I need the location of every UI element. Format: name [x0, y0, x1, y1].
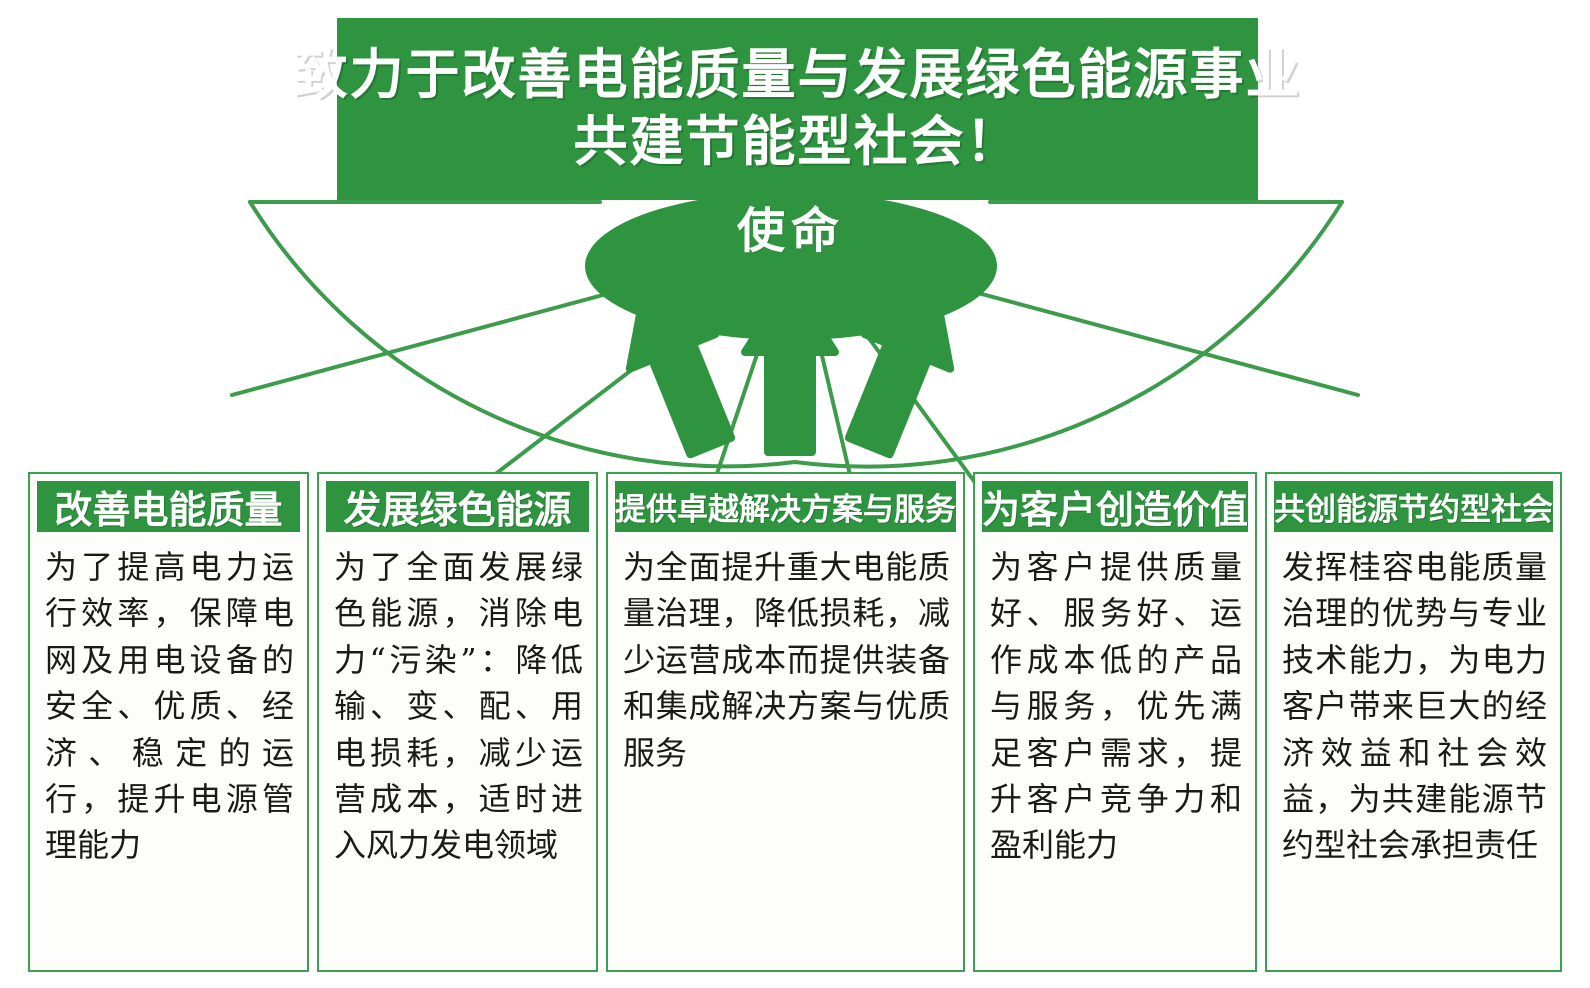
pillar-card-2-header: 发展绿色能源 — [324, 479, 591, 534]
pillar-card-5-title: 共创能源节约型社会 — [1274, 484, 1553, 529]
pillar-card-3-body: 为全面提升重大电能质量治理，降低损耗，减少运营成本而提供装备和集成解决方案与优质… — [613, 534, 958, 964]
pillar-card-5-header: 共创能源节约型社会 — [1272, 479, 1555, 534]
mission-banner-line-2: 共建节能型社会！ — [574, 109, 1022, 177]
mission-hub-ellipse: 使命 — [585, 192, 997, 340]
pillar-card-4-header: 为客户创造价值 — [980, 479, 1250, 534]
pillar-card-5-body: 发挥桂容电能质量治理的优势与专业技术能力，为电力客户带来巨大的经济效益和社会效益… — [1272, 534, 1555, 964]
pillar-card-4[interactable]: 为客户创造价值 为客户提供质量好、服务好、运作成本低的产品与服务，优先满足客户需… — [973, 472, 1257, 972]
pillar-card-1[interactable]: 改善电能质量 为了提高电力运行效率，保障电网及用电设备的安全、优质、经济、稳定的… — [28, 472, 309, 972]
pillar-card-1-title: 改善电能质量 — [54, 479, 282, 534]
mission-banner-line-1: 致力于改善电能质量与发展绿色能源事业 — [294, 42, 1302, 110]
pillar-card-1-body: 为了提高电力运行效率，保障电网及用电设备的安全、优质、经济、稳定的运行，提升电源… — [35, 534, 302, 964]
mission-diagram: 致力于改善电能质量与发展绿色能源事业 共建节能型社会！ 使命 改善电能质量 为了… — [0, 0, 1590, 988]
mission-banner: 致力于改善电能质量与发展绿色能源事业 共建节能型社会！ — [337, 18, 1258, 200]
pillar-card-2[interactable]: 发展绿色能源 为了全面发展绿色能源，消除电力“污染”：降低输、变、配、用电损耗，… — [317, 472, 598, 972]
pillar-card-row: 改善电能质量 为了提高电力运行效率，保障电网及用电设备的安全、优质、经济、稳定的… — [28, 472, 1562, 972]
pillar-card-1-header: 改善电能质量 — [35, 479, 302, 534]
pillar-card-2-body: 为了全面发展绿色能源，消除电力“污染”：降低输、变、配、用电损耗，减少运营成本，… — [324, 534, 591, 964]
pillar-card-3-title: 提供卓越解决方案与服务 — [615, 484, 956, 529]
pillar-card-3[interactable]: 提供卓越解决方案与服务 为全面提升重大电能质量治理，降低损耗，减少运营成本而提供… — [606, 472, 965, 972]
pillar-card-4-body: 为客户提供质量好、服务好、运作成本低的产品与服务，优先满足客户需求，提升客户竞争… — [980, 534, 1250, 964]
pillar-card-3-header: 提供卓越解决方案与服务 — [613, 479, 958, 534]
mission-hub-label: 使命 — [737, 192, 845, 256]
pillar-card-5[interactable]: 共创能源节约型社会 发挥桂容电能质量治理的优势与专业技术能力，为电力客户带来巨大… — [1265, 472, 1562, 972]
pillar-card-4-title: 为客户创造价值 — [982, 479, 1248, 534]
pillar-card-2-title: 发展绿色能源 — [343, 479, 571, 534]
